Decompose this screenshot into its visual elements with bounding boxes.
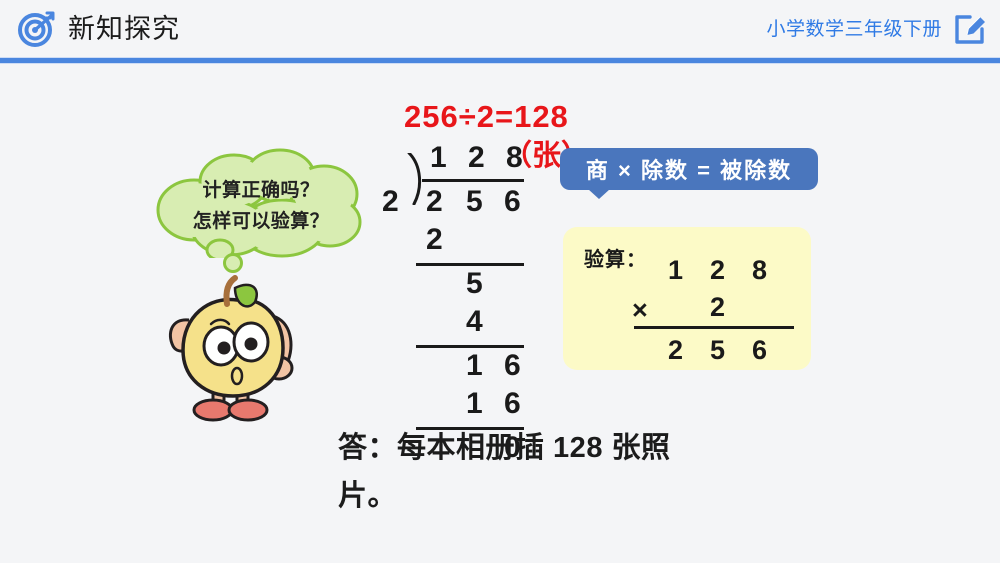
speech-line-2: 怎样可以验算？ — [175, 206, 347, 237]
quotient-digit-3: 8 — [506, 143, 523, 173]
verify-product-digit-1: 2 — [668, 337, 683, 364]
verify-operator: × — [632, 297, 648, 324]
division-step-3: 4 — [466, 307, 483, 337]
dividend-digit-2: 5 — [466, 187, 483, 217]
division-vinculum — [422, 179, 524, 182]
rule-callout: 商 × 除数 = 被除数 — [560, 148, 818, 190]
speech-line-1: 计算正确吗？ — [175, 175, 347, 206]
verify-multiplicand-digit-2: 2 — [710, 257, 725, 284]
speech-bubble-tail-dot — [222, 252, 244, 274]
division-step-2: 5 — [466, 269, 483, 299]
verify-multiplier: 2 — [710, 294, 725, 321]
header-divider — [0, 57, 1000, 64]
edit-pencil-icon[interactable] — [952, 11, 988, 47]
long-division-work: 1 2 8 2 2 5 6 2 5 4 1 6 1 6 0 — [376, 140, 556, 400]
verify-product-digit-2: 5 — [710, 337, 725, 364]
answer-statement: 答：每本相册插 128 张照片。 — [338, 424, 698, 520]
slide-header: 新知探究 小学数学三年级下册 — [0, 0, 1000, 58]
rule-callout-text: 商 × 除数 = 被除数 — [586, 153, 792, 185]
rule-callout-tail — [588, 189, 610, 199]
verification-rule — [634, 326, 794, 329]
division-rule-2 — [416, 345, 524, 348]
red-equation: 256÷2=128 — [404, 99, 569, 135]
quotient-digit-1: 1 — [430, 143, 447, 173]
apple-cartoon-character — [163, 272, 311, 422]
division-step-4-digit-2: 6 — [504, 351, 521, 381]
division-step-5-digit-1: 1 — [466, 389, 483, 419]
speech-bubble-text: 计算正确吗？ 怎样可以验算？ — [175, 175, 347, 237]
divisor-digit: 2 — [382, 187, 399, 217]
dividend-digit-3: 6 — [504, 187, 521, 217]
verify-multiplicand-digit-3: 8 — [752, 257, 767, 284]
page-title: 新知探究 — [68, 11, 180, 47]
division-step-4-digit-1: 1 — [466, 351, 483, 381]
division-rule-1 — [416, 263, 524, 266]
dividend-digit-1: 2 — [426, 187, 443, 217]
slide-canvas: 新知探究 小学数学三年级下册 256÷2=128 （张） 1 2 8 2 2 — [0, 0, 1000, 563]
verify-multiplicand-digit-1: 1 — [668, 257, 683, 284]
subject-label: 小学数学三年级下册 — [766, 17, 942, 43]
verify-product-digit-3: 6 — [752, 337, 767, 364]
division-step-5-digit-2: 6 — [504, 389, 521, 419]
quotient-digit-2: 2 — [468, 143, 485, 173]
target-icon — [18, 10, 56, 48]
verification-label: 验算： — [584, 243, 647, 272]
division-step-1: 2 — [426, 225, 443, 255]
